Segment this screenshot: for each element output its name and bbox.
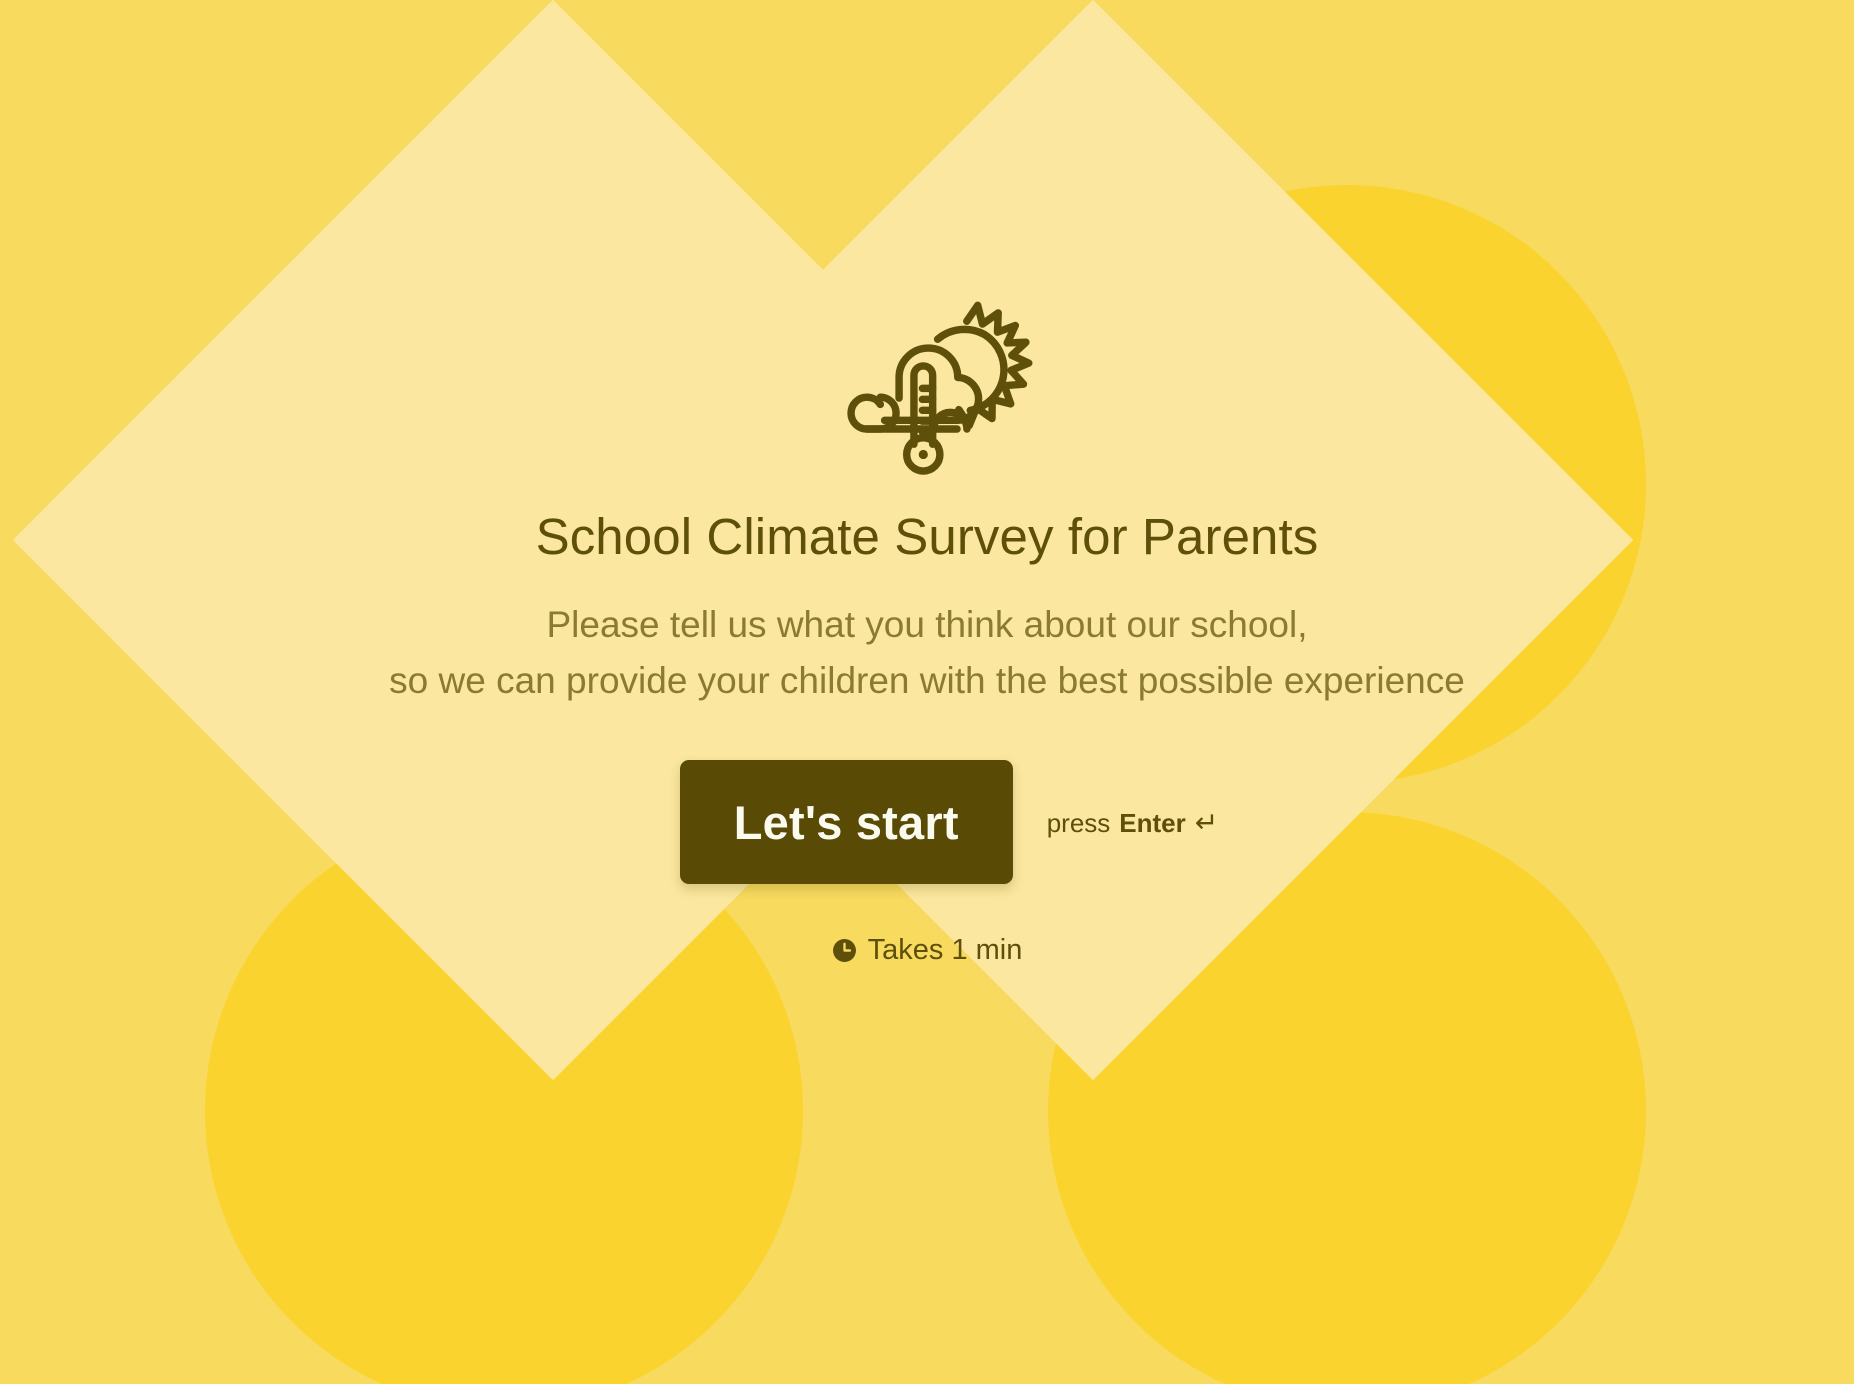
press-enter-hint-key: Enter [1119,808,1185,839]
duration-label: Takes 1 min [868,934,1023,967]
survey-welcome-screen: School Climate Survey for Parents Please… [0,0,1854,1384]
welcome-content: School Climate Survey for Parents Please… [0,0,1854,1384]
clock-icon [832,938,857,963]
page-subtitle-line-2: so we can provide your children with the… [389,653,1465,709]
enter-key-icon: ↵ [1195,806,1218,839]
cta-row: Let's start press Enter ↵ [680,760,1218,884]
page-subtitle: Please tell us what you think about our … [389,597,1465,708]
start-button[interactable]: Let's start [680,760,1013,884]
press-enter-hint: press Enter ↵ [1047,806,1219,839]
page-subtitle-line-1: Please tell us what you think about our … [389,597,1465,653]
sun-cloud-thermometer-icon [821,270,1033,482]
page-title: School Climate Survey for Parents [536,506,1319,567]
press-enter-hint-prefix: press [1047,808,1111,839]
duration-row: Takes 1 min [832,934,1023,967]
